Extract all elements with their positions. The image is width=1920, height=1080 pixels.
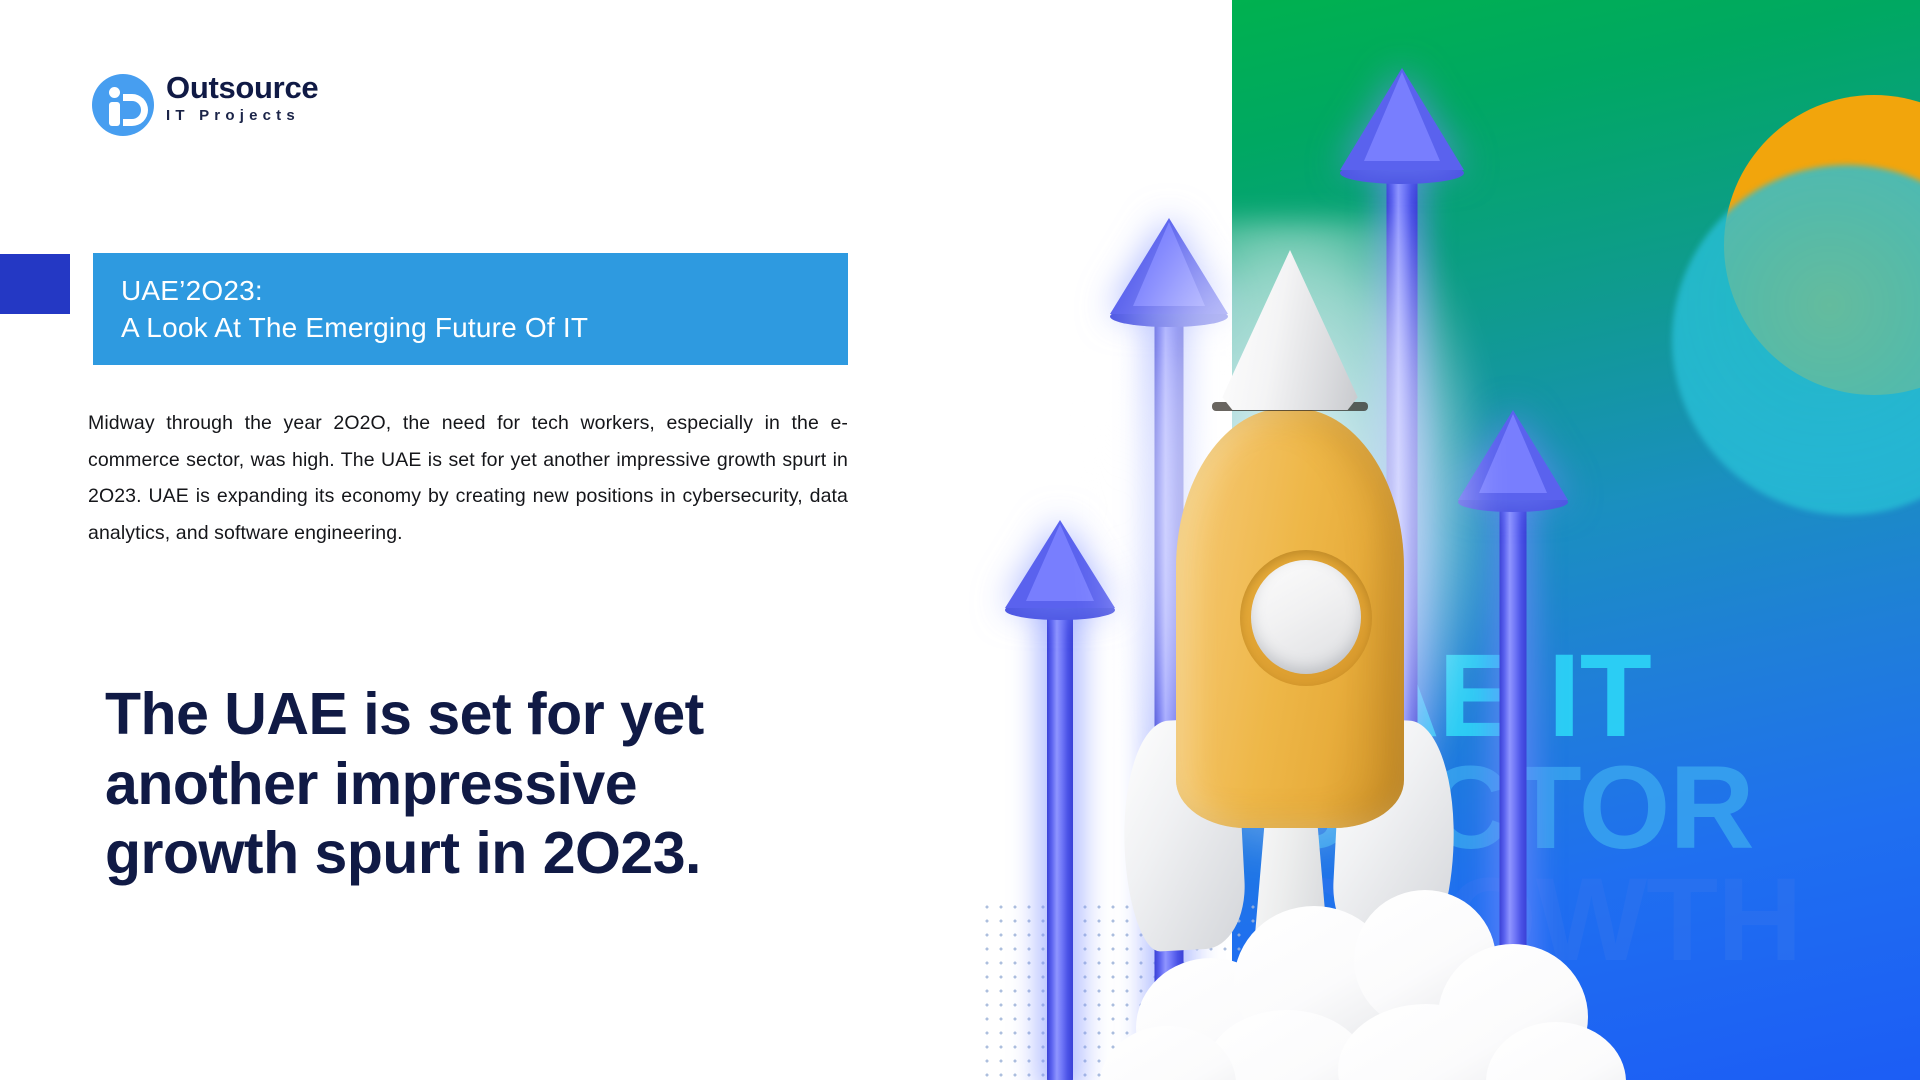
brand-logo[interactable]: Outsource IT Projects xyxy=(92,70,412,144)
title-line-2: A Look At The Emerging Future Of IT xyxy=(121,309,848,346)
brand-tagline: IT Projects xyxy=(166,107,318,124)
title-banner: UAE’2O23: A Look At The Emerging Future … xyxy=(93,253,848,365)
page-headline: The UAE is set for yet another impressiv… xyxy=(105,680,845,889)
title-accent-block xyxy=(0,254,70,314)
body-paragraph: Midway through the year 2O2O, the need f… xyxy=(88,405,848,552)
title-line-1: UAE’2O23: xyxy=(121,272,848,309)
logo-i-stem xyxy=(109,102,120,126)
arrow-shaft xyxy=(1047,612,1073,1080)
haze-circle-decoration xyxy=(1672,165,1920,515)
outsource-it-logo-mark-icon xyxy=(92,74,154,136)
brand-logo-text: Outsource IT Projects xyxy=(166,70,318,124)
rocket-window xyxy=(1251,560,1361,674)
logo-i-dot xyxy=(109,87,120,98)
logo-p-bowl xyxy=(123,94,148,126)
rocket-smoke-cloud xyxy=(1160,900,1600,1080)
brand-name: Outsource xyxy=(166,70,318,106)
poster-canvas: UAE IT SECTOR GROWTH xyxy=(0,0,1920,1080)
